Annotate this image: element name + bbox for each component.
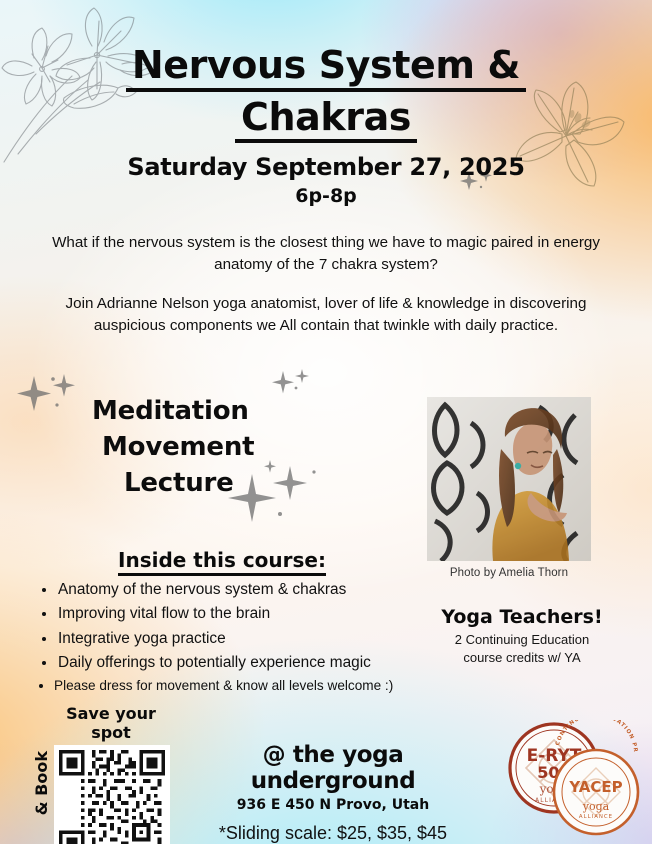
yoga-teachers-heading: Yoga Teachers!: [432, 606, 612, 628]
svg-text:yoga: yoga: [582, 800, 610, 813]
course-heading: Inside this course:: [22, 548, 422, 572]
list-item: Integrative yoga practice: [40, 627, 422, 651]
qr-code[interactable]: [54, 745, 170, 844]
title-line-1: Nervous System &: [126, 44, 526, 92]
save-your-spot-label: Save your spot: [46, 704, 176, 742]
poster-header: Nervous System & Chakras Saturday Septem…: [0, 44, 652, 207]
yoga-teachers-block: Yoga Teachers! 2 Continuing Education co…: [432, 606, 612, 668]
photo-credit: Photo by Amelia Thorn: [427, 567, 591, 579]
event-date: Saturday September 27, 2025: [0, 153, 652, 181]
instructor-photo: [427, 397, 591, 561]
yoga-alliance-badges: E-RYT 500 yoga ALLIANCE CONTINUING EDUCA…: [496, 720, 646, 838]
course-list: Anatomy of the nervous system & chakras …: [22, 578, 422, 697]
intro-text: What if the nervous system is the closes…: [46, 232, 606, 336]
page-title: Nervous System & Chakras: [111, 44, 541, 143]
event-time: 6p-8p: [0, 185, 652, 207]
and-book-label: & Book: [32, 751, 51, 815]
title-line-2: Chakras: [235, 96, 417, 144]
list-item: Please dress for movement & know all lev…: [40, 675, 422, 696]
svg-text:ALLIANCE: ALLIANCE: [579, 814, 613, 820]
offering-movement: Movement: [92, 430, 332, 466]
offering-meditation: Meditation: [92, 394, 332, 430]
intro-paragraph-2: Join Adrianne Nelson yoga anatomist, lov…: [46, 293, 606, 336]
offering-list: Meditation Movement Lecture: [92, 394, 332, 502]
booking-block: Save your spot & Book: [36, 704, 176, 844]
yoga-teachers-line-2: course credits w/ YA: [432, 649, 612, 667]
event-poster: Nervous System & Chakras Saturday Septem…: [0, 0, 652, 844]
sparkle-icon: [14, 372, 78, 420]
offering-lecture: Lecture: [92, 466, 332, 502]
price-note: *Sliding scale: $25, $35, $45: [178, 823, 488, 844]
venue-name: @ the yoga underground: [178, 742, 488, 794]
yoga-teachers-line-1: 2 Continuing Education: [432, 631, 612, 649]
list-item: Anatomy of the nervous system & chakras: [40, 578, 422, 602]
venue-block: @ the yoga underground 936 E 450 N Provo…: [178, 742, 488, 844]
list-item: Daily offerings to potentially experienc…: [40, 651, 422, 675]
course-contents: Inside this course: Anatomy of the nervo…: [22, 548, 422, 697]
venue-address: 936 E 450 N Provo, Utah: [178, 797, 488, 813]
instructor-photo-block: Photo by Amelia Thorn: [427, 397, 591, 579]
svg-text:YACEP: YACEP: [568, 778, 622, 796]
list-item: Improving vital flow to the brain: [40, 602, 422, 626]
intro-paragraph-1: What if the nervous system is the closes…: [46, 232, 606, 275]
